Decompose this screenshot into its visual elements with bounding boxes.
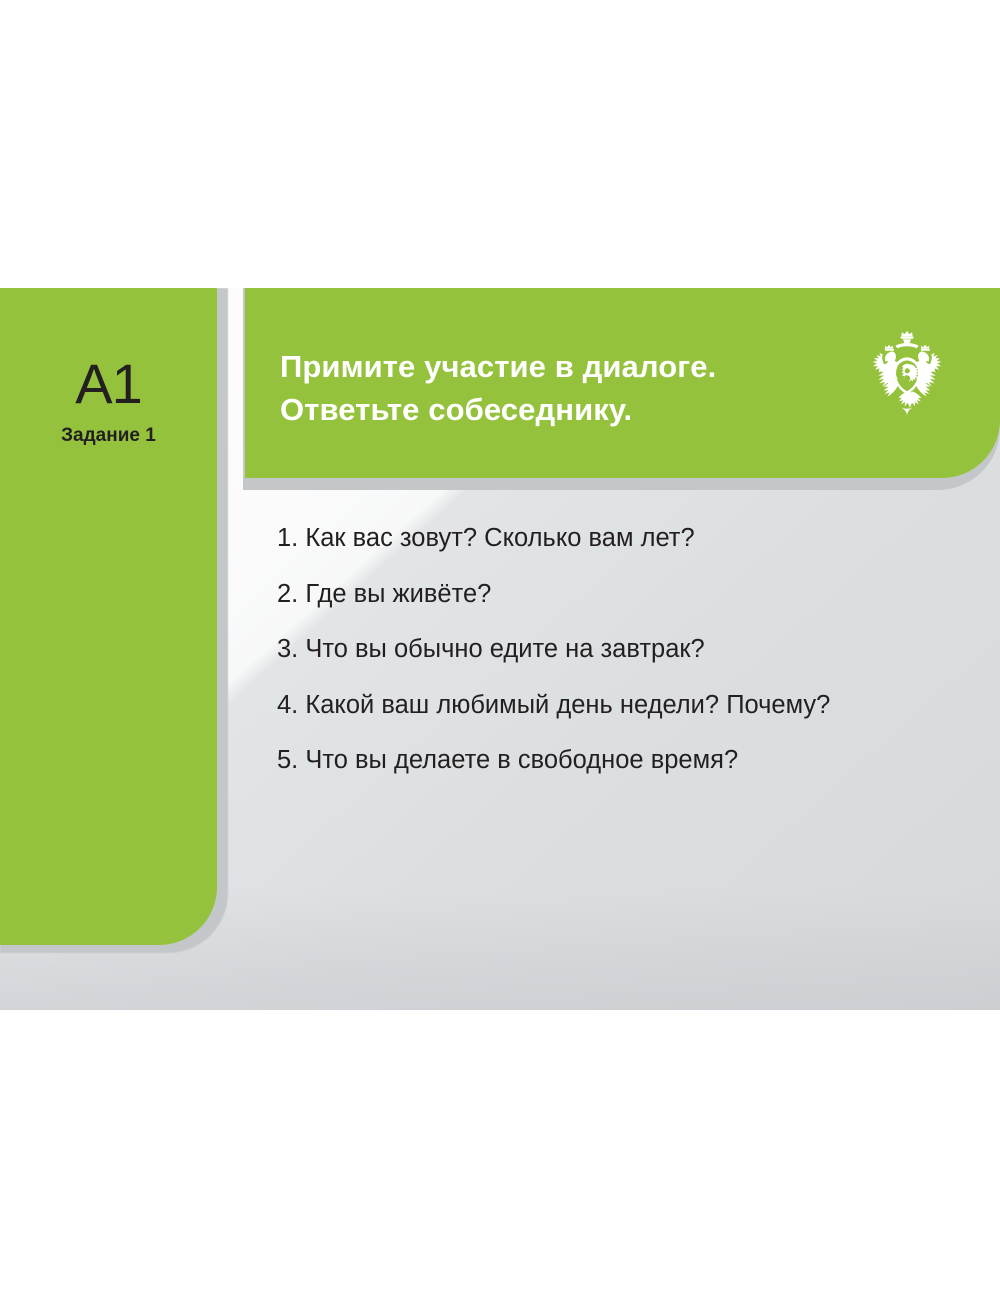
question-item: 4. Какой ваш любимый день недели? Почему… — [277, 693, 967, 719]
task-label: Задание 1 — [0, 426, 217, 445]
level-badge: A1 Задание 1 — [0, 356, 217, 445]
task-card: A1 Задание 1 Примите участие в диалоге. … — [0, 288, 1000, 1010]
left-green-rail: A1 Задание 1 — [0, 288, 217, 945]
question-item: 2. Где вы живёте? — [277, 582, 967, 608]
double-headed-eagle-icon — [865, 328, 949, 420]
level-code: A1 — [0, 356, 217, 412]
question-list: 1. Как вас зовут? Сколько вам лет? 2. Гд… — [277, 526, 967, 774]
question-item: 3. Что вы обычно едите на завтрак? — [277, 637, 967, 663]
header-banner: Примите участие в диалоге. Ответьте собе… — [245, 288, 1000, 478]
slide-page: A1 Задание 1 Примите участие в диалоге. … — [0, 0, 1000, 1300]
question-item: 1. Как вас зовут? Сколько вам лет? — [277, 526, 967, 552]
page-title: Примите участие в диалоге. Ответьте собе… — [280, 346, 880, 432]
question-item: 5. Что вы делаете в свободное время? — [277, 748, 967, 774]
